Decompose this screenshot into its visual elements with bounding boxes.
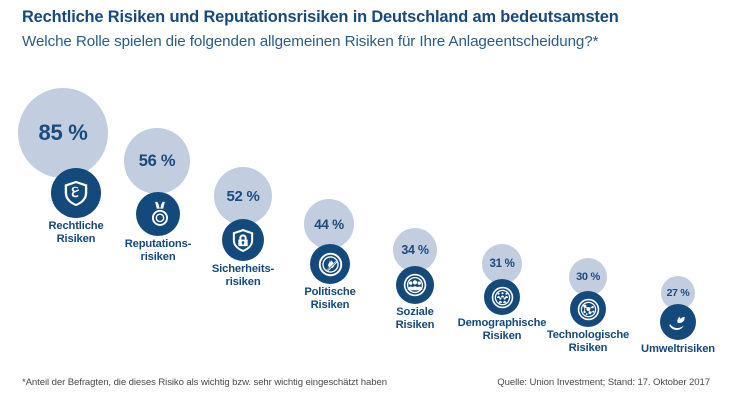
footnote-methodology: *Anteil der Befragten, die dieses Risiko… xyxy=(22,377,387,388)
torch-flame-icon-glyph xyxy=(318,252,343,277)
molecule-network-icon xyxy=(570,291,606,327)
shield-paragraph-icon xyxy=(51,168,101,218)
molecule-network-icon-glyph xyxy=(577,298,600,321)
crowd-icon xyxy=(484,279,520,315)
shield-lock-icon-glyph xyxy=(230,227,256,253)
value-bubble: 52 % xyxy=(214,167,272,225)
risk-category-label: Umweltrisiken xyxy=(608,343,730,356)
hand-leaf-icon xyxy=(660,304,696,340)
shield-paragraph-icon-glyph xyxy=(61,178,91,208)
crowd-icon-glyph xyxy=(491,286,514,309)
infographic-root: Rechtliche Risiken und Reputationsrisike… xyxy=(0,0,730,411)
people-group-icon xyxy=(396,266,434,304)
value-bubble: 56 % xyxy=(124,128,190,194)
footnote-source: Quelle: Union Investment; Stand: 17. Okt… xyxy=(497,377,710,388)
people-group-icon-glyph xyxy=(403,273,427,297)
medal-icon-glyph xyxy=(145,201,172,228)
bubble-chart: 85 % Rechtliche Risiken56 % Reputations-… xyxy=(0,0,730,411)
value-bubble: 44 % xyxy=(304,199,354,249)
value-bubble: 31 % xyxy=(482,244,522,284)
value-bubble: 85 % xyxy=(18,88,108,178)
shield-lock-icon xyxy=(222,219,264,261)
torch-flame-icon xyxy=(310,244,350,284)
medal-icon xyxy=(136,192,180,236)
hand-leaf-icon-glyph xyxy=(667,311,690,334)
risk-category-label: Reputations- risiken xyxy=(98,238,218,265)
